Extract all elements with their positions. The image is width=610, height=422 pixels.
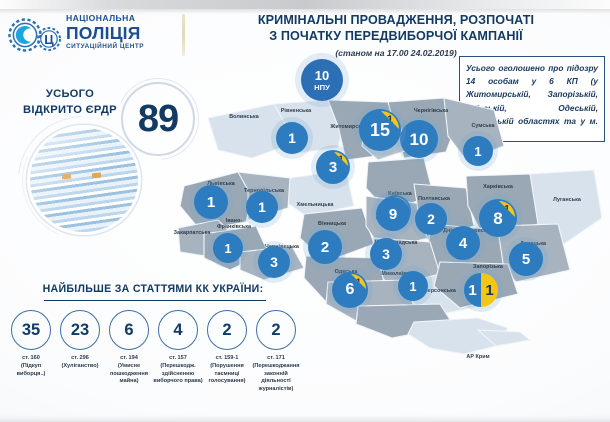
region-bubble-value: 1 <box>464 282 481 299</box>
region-bubble: 31 <box>316 150 350 184</box>
stat-description: (Умисне пошкодження майна) <box>104 363 154 385</box>
stat-description: (Хуліганство) <box>55 363 105 370</box>
region-bubble: 3 <box>258 246 290 278</box>
total-label-line-1: УСЬОГО <box>14 86 126 102</box>
stat-article: ст. 160 <box>6 355 56 362</box>
region-bubble: 9 <box>376 197 410 231</box>
stat-value: 2 <box>207 310 247 350</box>
stat-value: 6 <box>109 310 149 350</box>
stat-item: 23ст. 296(Хуліганство) <box>55 310 105 371</box>
region-bubble-value: 10 <box>410 131 429 148</box>
svg-text:Ц: Ц <box>44 32 54 47</box>
stats-title: НАЙБІЛЬШЕ ЗА СТАТТЯМИ КК УКРАЇНИ: <box>18 283 288 295</box>
stat-article: ст. 159-1 <box>202 355 252 362</box>
photo-sheen <box>30 128 138 232</box>
region-bubble-value: 6 <box>346 282 355 298</box>
region-bubble-value: 4 <box>459 236 467 251</box>
region-bubble-value: 1 <box>224 242 231 255</box>
region-bubble: 1 <box>276 122 308 154</box>
stat-article: ст. 194 <box>104 355 154 362</box>
region-bubble-value: 1 <box>207 195 215 210</box>
region-bubble-value: 1 <box>474 145 481 158</box>
stat-description: (Перешкодж. здійсненню виборчого права) <box>153 363 203 385</box>
page-title-line-2: З ПОЧАТКУ ПЕРЕДВИБОРЧОЇ КАМПАНІЇ <box>196 29 596 45</box>
stat-value: 4 <box>158 310 198 350</box>
region-bubble: 5 <box>509 242 543 276</box>
page-title-line-1: КРИМІНАЛЬНІ ПРОВАДЖЕННЯ, РОЗПОЧАТІ <box>196 13 596 29</box>
logo-wordmark: НАЦІОНАЛЬНА ПОЛІЦІЯ СИТУАЦІЙНИЙ ЦЕНТР <box>66 13 172 51</box>
stat-description: (Перешкоджання законній діяльності журна… <box>251 363 301 393</box>
logo-line-2: ПОЛІЦІЯ <box>66 24 172 42</box>
stat-description: (Підкуп виборця..) <box>6 363 56 378</box>
top-band <box>0 0 610 9</box>
stat-item: 2ст. 159-1(Порушення таємниці голосуванн… <box>202 310 252 386</box>
bubble-npu-caption: НПУ <box>314 84 330 92</box>
region-bubble: 2 <box>308 230 342 264</box>
region-bubble: 2 <box>415 203 447 235</box>
region-bubble: 10 <box>400 120 438 158</box>
region-bubble: 3 <box>370 238 402 270</box>
region-bubble-value: 2 <box>427 212 435 226</box>
stats-underline <box>44 300 266 301</box>
region-bubble-value: 9 <box>389 207 397 222</box>
police-gear-icon: Ц <box>8 17 64 55</box>
region-bubble: 61 <box>332 272 368 308</box>
region-bubble-suspicion-value: 1 <box>481 282 498 299</box>
stat-value: 35 <box>11 310 51 350</box>
stat-article: ст. 171 <box>251 355 301 362</box>
region-bubble-value: 3 <box>329 160 337 175</box>
total-label-line-2: ВІДКРИТО ЄРДР <box>14 102 126 118</box>
region-bubble: 151 <box>359 109 401 151</box>
region-bubble-value: 8 <box>493 210 502 227</box>
region-bubble-value: 2 <box>321 240 329 255</box>
region-bubble-value: 1 <box>288 131 296 145</box>
region-bubble-value: 3 <box>382 247 390 261</box>
stat-article: ст. 157 <box>153 355 203 362</box>
region-bubble: 1 <box>463 136 493 166</box>
case-files-photo <box>30 128 138 232</box>
region-bubble: 81 <box>479 199 517 237</box>
region-bubble: 1 <box>194 185 228 219</box>
region-bubble-value: 3 <box>270 255 278 269</box>
infographic-root: Ц НАЦІОНАЛЬНА ПОЛІЦІЯ СИТУАЦІЙНИЙ ЦЕНТР … <box>0 0 610 422</box>
bubble-npu-value: 10 <box>315 69 329 82</box>
bubble-npu: 10 НПУ <box>301 59 343 101</box>
region-bubble: 1 <box>246 191 278 223</box>
stats-row: 35ст. 160(Підкуп виборця..)23ст. 296(Хул… <box>6 310 306 418</box>
region-bubble: 11 <box>464 273 498 307</box>
region-bubble: 4 <box>446 226 480 260</box>
page-title: КРИМІНАЛЬНІ ПРОВАДЖЕННЯ, РОЗПОЧАТІ З ПОЧ… <box>196 13 596 44</box>
stat-description: (Порушення таємниці голосування) <box>202 363 252 385</box>
region-bubble-value: 15 <box>370 121 390 139</box>
region-bubble-value: 5 <box>522 252 530 267</box>
stat-item: 2ст. 171(Перешкоджання законній діяльнос… <box>251 310 301 393</box>
stat-item: 6ст. 194(Умисне пошкодження майна) <box>104 310 154 386</box>
total-label: УСЬОГО ВІДКРИТО ЄРДР <box>14 86 126 118</box>
region-bubble-value: 1 <box>258 200 266 214</box>
logo-divider <box>182 14 185 56</box>
stat-item: 35ст. 160(Підкуп виборця..) <box>6 310 56 378</box>
stat-item: 4ст. 157(Перешкодж. здійсненню виборчого… <box>153 310 203 386</box>
logo-line-3: СИТУАЦІЙНИЙ ЦЕНТР <box>66 42 172 51</box>
logo: Ц НАЦІОНАЛЬНА ПОЛІЦІЯ СИТУАЦІЙНИЙ ЦЕНТР <box>8 13 173 59</box>
region-bubble: 1 <box>398 271 428 301</box>
region-bubble-value: 1 <box>409 280 416 293</box>
stat-article: ст. 296 <box>55 355 105 362</box>
region-bubble: 1 <box>213 233 243 263</box>
stat-value: 2 <box>256 310 296 350</box>
stat-value: 23 <box>60 310 100 350</box>
